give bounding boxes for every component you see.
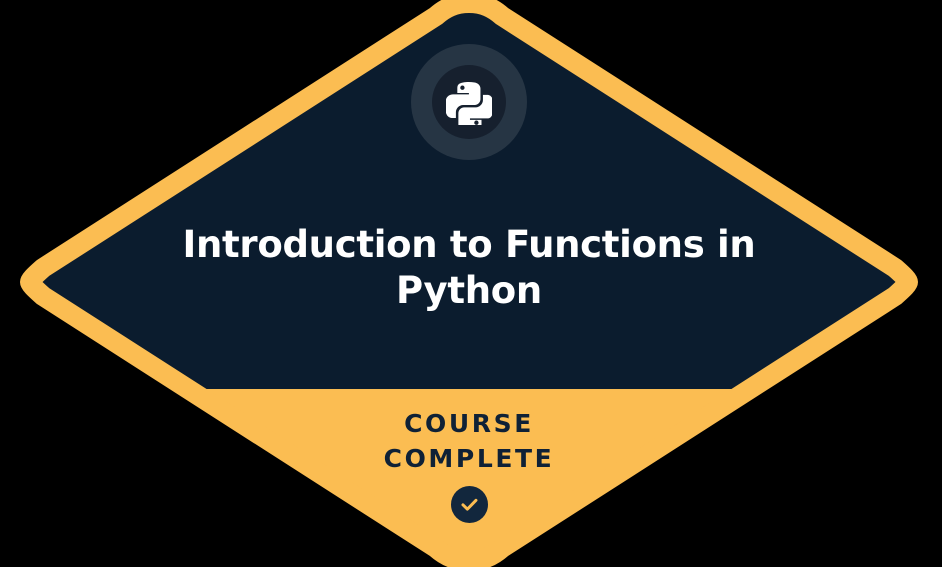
completion-status: COURSE COMPLETE: [221, 406, 717, 523]
completion-check-badge: [451, 486, 488, 523]
course-title-line-1: Introduction to Functions in: [183, 223, 756, 266]
course-completion-badge: Introduction to Functions in Python COUR…: [0, 0, 942, 567]
check-icon: [459, 494, 480, 515]
course-title: Introduction to Functions in Python: [171, 222, 767, 314]
status-line-complete: COMPLETE: [221, 441, 717, 476]
python-emblem-inner-circle: [432, 65, 506, 139]
python-emblem: [411, 44, 527, 160]
course-title-line-2: Python: [396, 269, 542, 312]
status-line-course: COURSE: [221, 406, 717, 441]
python-logo-icon: [446, 79, 492, 125]
